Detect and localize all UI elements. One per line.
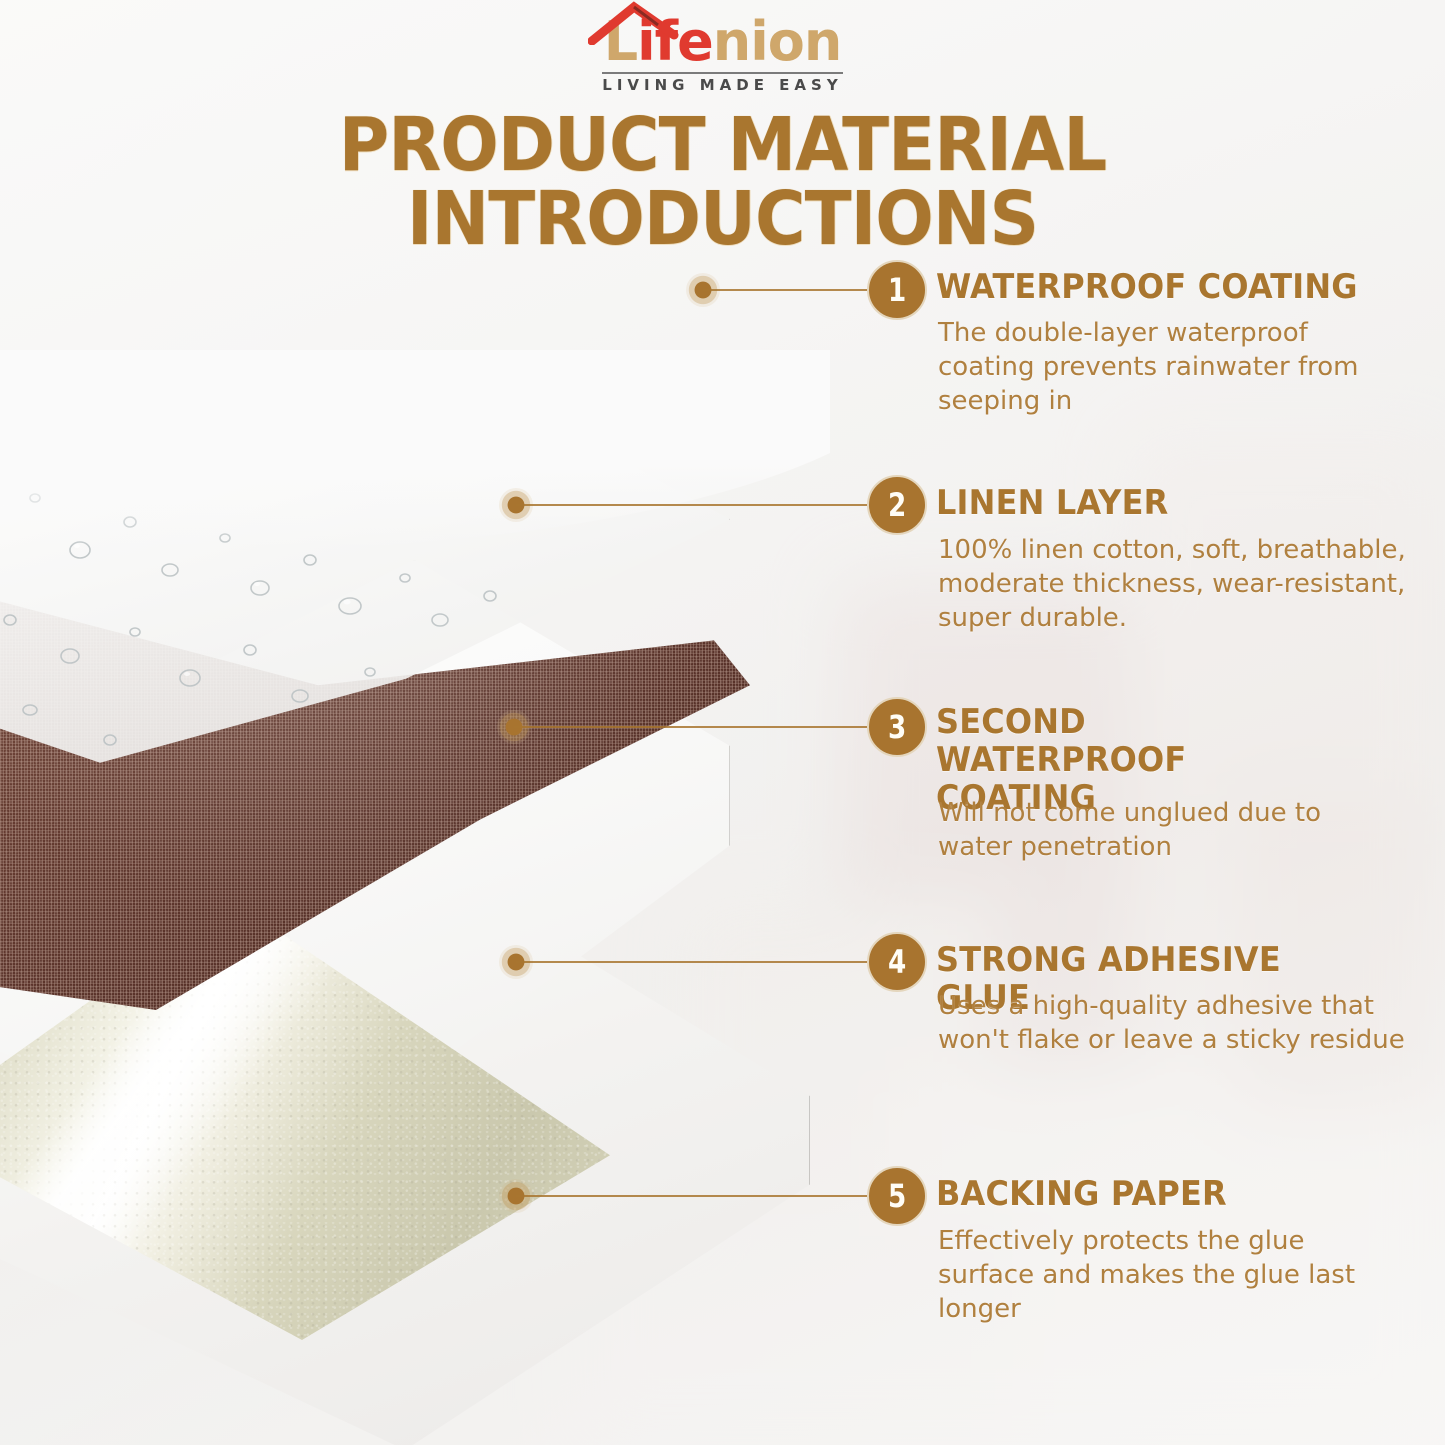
callout-3-body: Will not come unglued due to water penet…	[938, 797, 1388, 865]
callout-5-leader-line	[516, 1195, 867, 1197]
callout-4-leader-line	[516, 961, 867, 963]
callout-3-leader-line	[514, 726, 867, 728]
callout-2-body: 100% linen cotton, soft, breathable, mod…	[938, 534, 1408, 635]
callout-1-body: The double-layer waterproof coating prev…	[938, 317, 1398, 418]
infographic-canvas: Lifenion LIVING MADE EASY PRODUCT MATERI…	[0, 0, 1445, 1445]
callout-3-number-badge: 3	[867, 697, 927, 757]
callout-2-number-badge: 2	[867, 475, 927, 535]
brand-tagline: LIVING MADE EASY	[602, 72, 842, 94]
callout-4-body: Uses a high-quality adhesive that won't …	[938, 990, 1406, 1058]
callout-5-number-badge: 5	[867, 1166, 927, 1226]
callout-1-number-badge: 1	[867, 260, 927, 320]
callout-4-number-badge: 4	[867, 932, 927, 992]
brand-logo: Lifenion LIVING MADE EASY	[0, 8, 1445, 100]
brand-name-part3: nion	[713, 10, 842, 73]
callout-5-body: Effectively protects the glue surface an…	[938, 1225, 1400, 1326]
brand-wordmark: Lifenion	[604, 15, 842, 69]
callout-2-heading: LINEN LAYER	[936, 484, 1378, 522]
callout-1-leader-line	[703, 289, 867, 291]
house-roof-icon	[588, 1, 706, 45]
material-layers-illustration	[0, 200, 890, 1445]
callout-2-leader-line	[516, 504, 867, 506]
callout-5-heading: BACKING PAPER	[936, 1175, 1378, 1213]
callout-1-heading: WATERPROOF COATING	[936, 268, 1378, 306]
